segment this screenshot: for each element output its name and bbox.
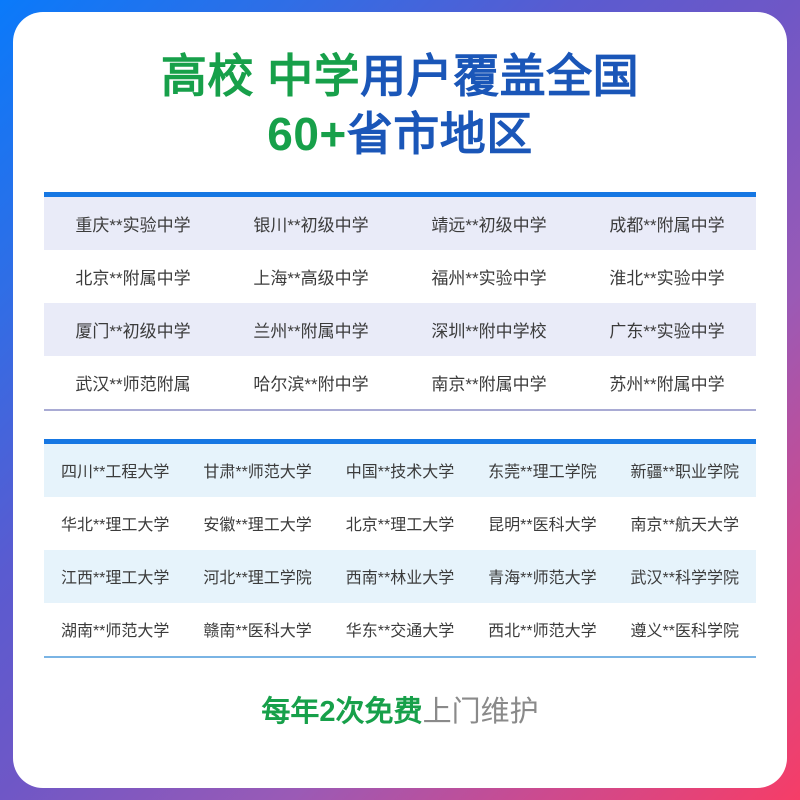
table-cell: 赣南**医科大学 <box>186 603 328 656</box>
content-card: 高校 中学用户覆盖全国 60+省市地区 重庆**实验中学银川**初级中学靖远**… <box>13 12 787 788</box>
table-cell: 遵义**医科学院 <box>614 603 756 656</box>
headline-line-1: 高校 中学用户覆盖全国 <box>13 48 787 106</box>
table-cell: 北京**理工大学 <box>329 497 471 550</box>
footer-highlight: 每年2次免费 <box>261 696 422 728</box>
table-row: 四川**工程大学甘肃**师范大学中国**技术大学东莞**理工学院新疆**职业学院 <box>44 444 756 497</box>
table-cell: 华东**交通大学 <box>329 603 471 656</box>
table-cell: 广东**实验中学 <box>578 303 756 356</box>
table-cell: 靖远**初级中学 <box>400 197 578 250</box>
table-row: 湖南**师范大学赣南**医科大学华东**交通大学西北**师范大学遵义**医科学院 <box>44 603 756 656</box>
table-cell: 西南**林业大学 <box>329 550 471 603</box>
universities-table: 四川**工程大学甘肃**师范大学中国**技术大学东莞**理工学院新疆**职业学院… <box>44 444 756 656</box>
table-cell: 中国**技术大学 <box>329 444 471 497</box>
table-row: 北京**附属中学上海**高级中学福州**实验中学淮北**实验中学 <box>44 250 756 303</box>
table-cell: 昆明**医科大学 <box>471 497 613 550</box>
table-cell: 重庆**实验中学 <box>44 197 222 250</box>
table-cell: 青海**师范大学 <box>471 550 613 603</box>
headline-line-2-green: 60+ <box>267 108 347 160</box>
table-cell: 银川**初级中学 <box>222 197 400 250</box>
table-row: 厦门**初级中学兰州**附属中学深圳**附中学校广东**实验中学 <box>44 303 756 356</box>
schools-table-block: 重庆**实验中学银川**初级中学靖远**初级中学成都**附属中学北京**附属中学… <box>44 192 756 411</box>
page-title: 高校 中学用户覆盖全国 60+省市地区 <box>13 48 787 164</box>
table-cell: 四川**工程大学 <box>44 444 186 497</box>
table-cell: 厦门**初级中学 <box>44 303 222 356</box>
headline-line-1-green: 高校 中学 <box>161 50 360 102</box>
footer-rest: 上门维护 <box>423 696 539 728</box>
headline-line-1-blue: 用户覆盖全国 <box>360 50 639 102</box>
table-row: 武汉**师范附属哈尔滨**附中学南京**附属中学苏州**附属中学 <box>44 356 756 409</box>
table-cell: 江西**理工大学 <box>44 550 186 603</box>
table-cell: 新疆**职业学院 <box>614 444 756 497</box>
table-cell: 深圳**附中学校 <box>400 303 578 356</box>
table-cell: 南京**航天大学 <box>614 497 756 550</box>
table-row: 华北**理工大学安徽**理工大学北京**理工大学昆明**医科大学南京**航天大学 <box>44 497 756 550</box>
table-cell: 河北**理工学院 <box>186 550 328 603</box>
table-cell: 成都**附属中学 <box>578 197 756 250</box>
table-cell: 上海**高级中学 <box>222 250 400 303</box>
schools-table-bottom-bar <box>44 409 756 411</box>
table-cell: 南京**附属中学 <box>400 356 578 409</box>
headline-line-2-blue: 省市地区 <box>347 108 533 160</box>
table-cell: 湖南**师范大学 <box>44 603 186 656</box>
table-cell: 北京**附属中学 <box>44 250 222 303</box>
table-cell: 华北**理工大学 <box>44 497 186 550</box>
universities-table-bottom-bar <box>44 656 756 658</box>
table-cell: 苏州**附属中学 <box>578 356 756 409</box>
footer-note: 每年2次免费上门维护 <box>13 688 787 730</box>
table-cell: 淮北**实验中学 <box>578 250 756 303</box>
table-cell: 福州**实验中学 <box>400 250 578 303</box>
table-cell: 哈尔滨**附中学 <box>222 356 400 409</box>
schools-table: 重庆**实验中学银川**初级中学靖远**初级中学成都**附属中学北京**附属中学… <box>44 197 756 409</box>
table-cell: 甘肃**师范大学 <box>186 444 328 497</box>
table-cell: 武汉**科学学院 <box>614 550 756 603</box>
table-cell: 东莞**理工学院 <box>471 444 613 497</box>
table-cell: 安徽**理工大学 <box>186 497 328 550</box>
table-row: 重庆**实验中学银川**初级中学靖远**初级中学成都**附属中学 <box>44 197 756 250</box>
table-row: 江西**理工大学河北**理工学院西南**林业大学青海**师范大学武汉**科学学院 <box>44 550 756 603</box>
table-cell: 兰州**附属中学 <box>222 303 400 356</box>
universities-table-block: 四川**工程大学甘肃**师范大学中国**技术大学东莞**理工学院新疆**职业学院… <box>44 439 756 658</box>
table-cell: 西北**师范大学 <box>471 603 613 656</box>
poster-root: 高校 中学用户覆盖全国 60+省市地区 重庆**实验中学银川**初级中学靖远**… <box>0 0 800 800</box>
headline-line-2: 60+省市地区 <box>13 106 787 164</box>
table-cell: 武汉**师范附属 <box>44 356 222 409</box>
